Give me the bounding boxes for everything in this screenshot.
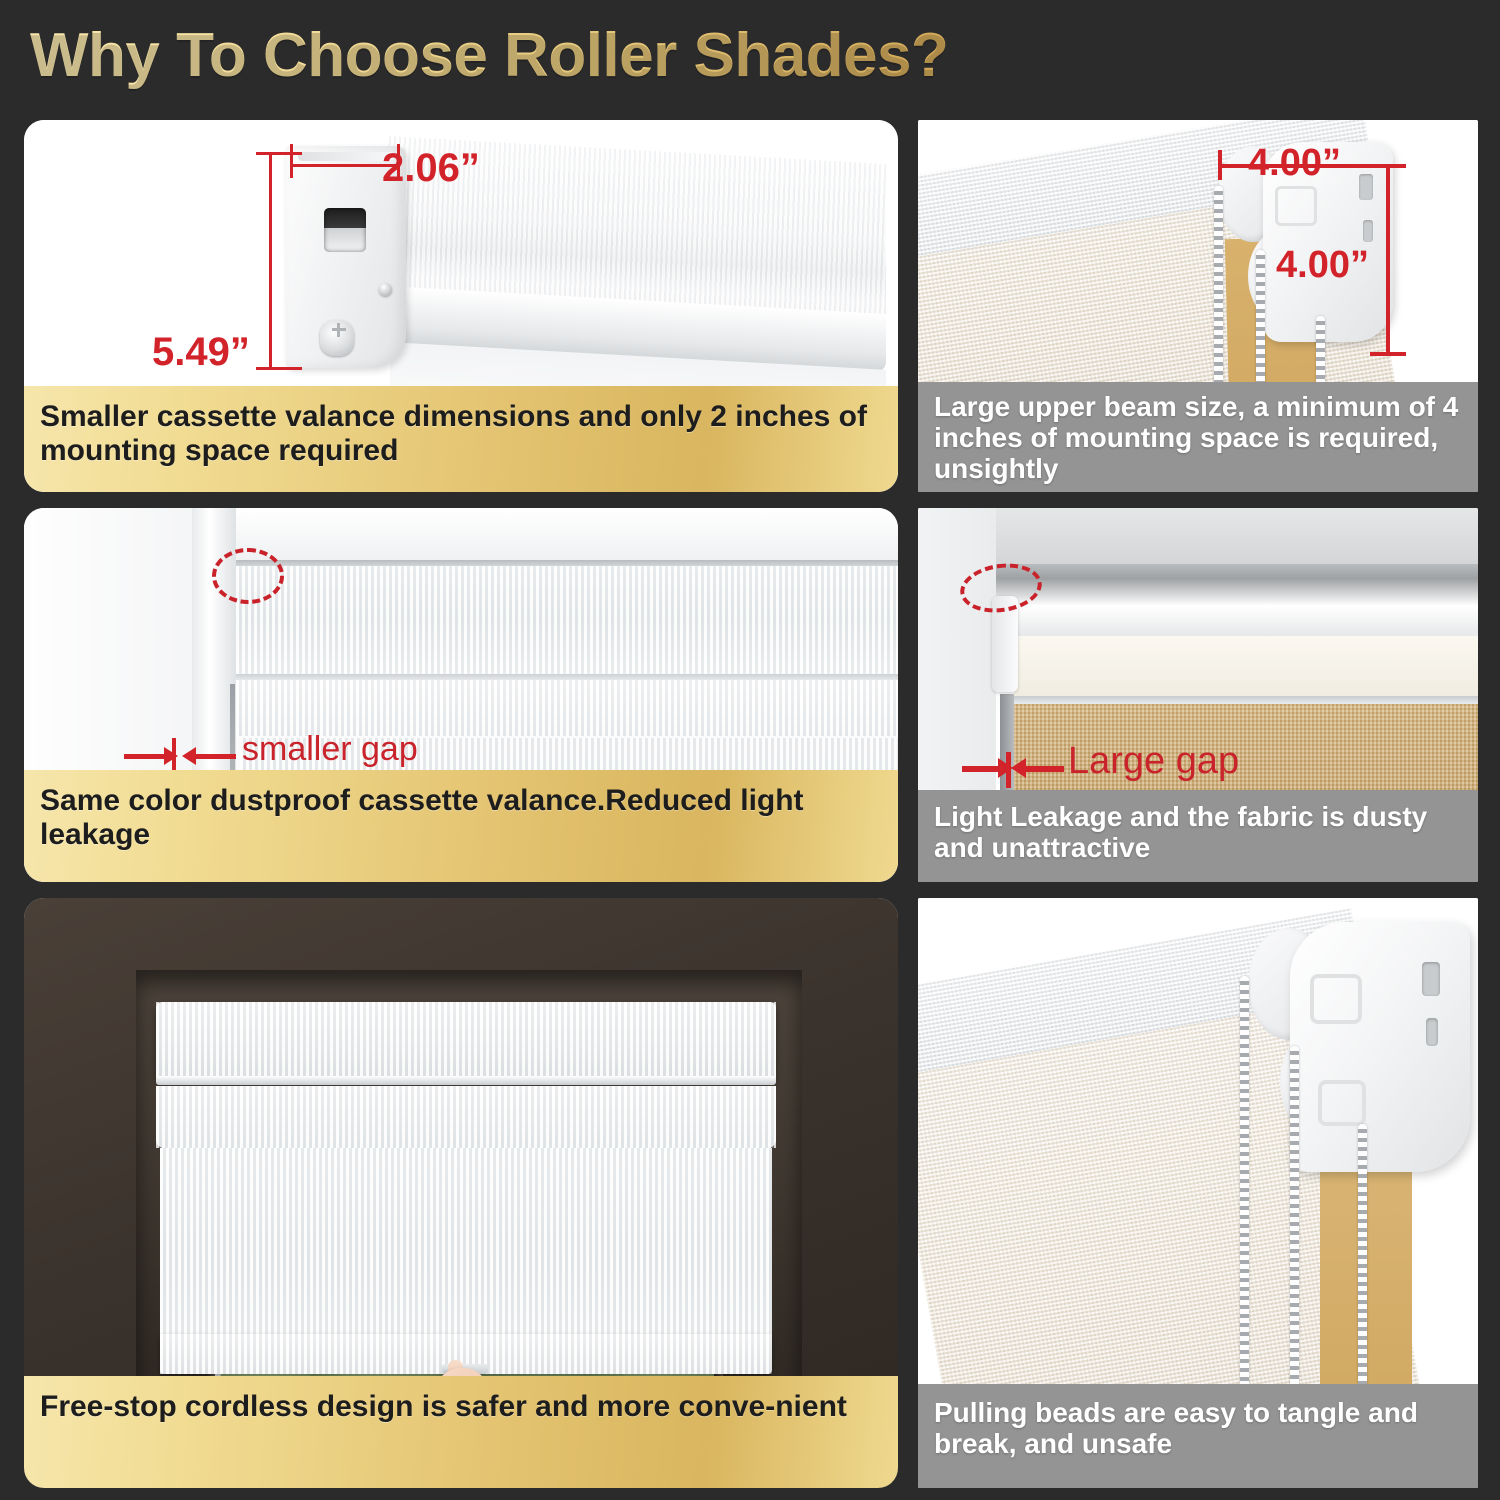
bracket-slot xyxy=(1426,1018,1438,1046)
width-dimension-label: 4.00” xyxy=(1248,142,1341,185)
height-dimension-line xyxy=(1386,164,1390,356)
title-bar: Why To Choose Roller Shades? xyxy=(0,0,1500,110)
valance-lip xyxy=(156,1076,776,1085)
depth-dimension-tick-left xyxy=(290,144,293,178)
page-title: Why To Choose Roller Shades? xyxy=(30,20,948,91)
bracket-slot xyxy=(1363,220,1373,242)
shade-panel-upper xyxy=(156,1086,776,1148)
shade-fabric-cream xyxy=(1014,636,1478,698)
roller-tube xyxy=(996,564,1478,636)
panel-smaller-cassette-valance[interactable]: 5.49” 2.06” Smaller cassette valance dim… xyxy=(24,120,898,492)
gap-tick-marker xyxy=(172,738,176,774)
window-header xyxy=(192,508,898,564)
panel-caption: Large upper beam size, a minimum of 4 in… xyxy=(918,382,1478,492)
screw-cross-icon xyxy=(337,323,340,337)
height-dimension-tick-bottom xyxy=(256,367,302,370)
depth-dimension-label: 2.06” xyxy=(382,146,480,191)
panel-free-stop-cordless[interactable]: Free-stop cordless design is safer and m… xyxy=(24,898,898,1488)
gap-callout-label: Large gap xyxy=(1068,740,1239,783)
height-dimension-tick-top xyxy=(256,152,302,155)
panel-light-leakage[interactable]: Large gap Light Leakage and the fabric i… xyxy=(918,508,1478,882)
height-dimension-line xyxy=(269,152,272,370)
panel-caption: Light Leakage and the fabric is dusty an… xyxy=(918,790,1478,882)
bracket-recess xyxy=(1318,1080,1366,1126)
gap-arrow-right-icon xyxy=(194,754,236,759)
gap-callout-label: smaller gap xyxy=(242,730,418,769)
height-dimension-tick-bottom xyxy=(1370,352,1406,356)
panel-caption: Same color dustproof cassette valance.Re… xyxy=(24,770,898,882)
panel-dustproof-cassette-valance[interactable]: smaller gap Same color dustproof cassett… xyxy=(24,508,898,882)
bracket-slot xyxy=(1422,962,1440,996)
mounting-bracket xyxy=(1290,922,1470,1172)
bracket-recess xyxy=(1275,186,1317,226)
shade-panel-upper xyxy=(236,566,898,674)
shade-panel-middle xyxy=(236,680,898,736)
comparison-grid: 5.49” 2.06” Smaller cassette valance dim… xyxy=(0,110,1500,1500)
bead-chain xyxy=(1240,976,1249,1446)
gap-arrow-left-icon xyxy=(962,766,1000,772)
height-dimension-tick-top xyxy=(1370,164,1406,168)
shade-fabric xyxy=(160,1148,772,1338)
dashed-circle-annotation xyxy=(212,548,284,604)
cassette-valance xyxy=(156,1002,776,1080)
gap-arrow-right-icon xyxy=(1024,766,1064,772)
panel-caption: Pulling beads are easy to tangle and bre… xyxy=(918,1384,1478,1488)
panel-pulling-beads[interactable]: Pulling beads are easy to tangle and bre… xyxy=(918,898,1478,1488)
bracket-recess xyxy=(1310,974,1362,1024)
screw-icon xyxy=(379,283,392,296)
height-dimension-label: 4.00” xyxy=(1276,244,1369,287)
bracket-slot xyxy=(1359,174,1373,200)
shade-divider-rail xyxy=(1014,696,1478,704)
ceiling-shadow xyxy=(918,508,1478,570)
height-dimension-label: 5.49” xyxy=(152,330,250,375)
panel-large-upper-beam[interactable]: 4.00” 4.00” Large upper beam size, a min… xyxy=(918,120,1478,492)
panel-caption: Free-stop cordless design is safer and m… xyxy=(24,1376,898,1488)
gap-arrow-left-icon xyxy=(124,754,166,759)
panel-caption: Smaller cassette valance dimensions and … xyxy=(24,386,898,492)
cassette-slot xyxy=(324,208,366,252)
width-dimension-tick-left xyxy=(1218,150,1222,180)
